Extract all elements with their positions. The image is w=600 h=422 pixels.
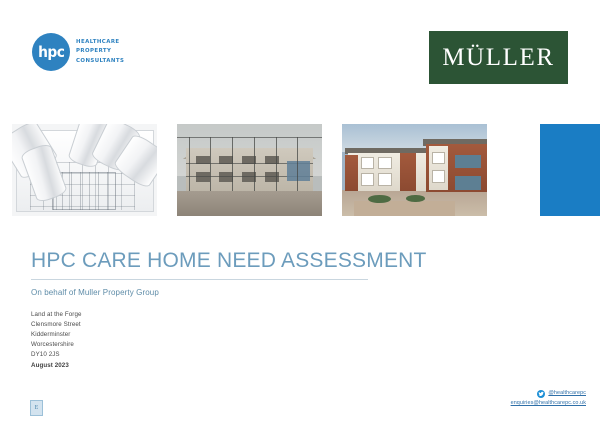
care-home-window bbox=[432, 170, 446, 183]
scaffold-pole bbox=[276, 137, 277, 191]
accent-block bbox=[540, 124, 600, 216]
page-marker-glyph: E bbox=[35, 405, 39, 411]
construction-tarpaulin bbox=[287, 161, 310, 181]
care-home-brick-pier-left bbox=[345, 155, 358, 191]
page-marker-icon: E bbox=[30, 400, 43, 416]
twitter-contact-row[interactable]: @healthcarepc bbox=[511, 390, 586, 398]
care-home-window bbox=[378, 173, 392, 186]
care-home-brick-pier-mid bbox=[400, 153, 416, 192]
title-divider bbox=[31, 279, 368, 280]
photo-construction-site bbox=[177, 124, 322, 216]
photo-completed-care-home bbox=[342, 124, 487, 216]
scaffold-pole bbox=[297, 137, 298, 191]
hpc-logo-word-3: CONSULTANTS bbox=[76, 57, 124, 66]
care-home-paving bbox=[354, 201, 456, 216]
muller-logo-text: MÜLLER bbox=[442, 44, 554, 72]
scaffold-pole bbox=[254, 137, 255, 191]
hpc-logo-mark: hpc bbox=[32, 33, 70, 71]
scaffold-top-rail bbox=[177, 137, 322, 138]
hpc-logo-mark-text: hpc bbox=[38, 45, 64, 60]
address-line-4: Worcestershire bbox=[31, 340, 82, 350]
care-home-window bbox=[361, 157, 375, 169]
care-home-glazing bbox=[455, 155, 481, 168]
scaffold-pole bbox=[232, 137, 233, 191]
care-home-window bbox=[361, 173, 375, 186]
document-date: August 2023 bbox=[31, 362, 69, 369]
care-home-entrance-glazing bbox=[455, 176, 481, 191]
site-address: Land at the Forge Clensmore Street Kidde… bbox=[31, 310, 82, 360]
hpc-logo-wordmark: HEALTHCARE PROPERTY CONSULTANTS bbox=[76, 38, 124, 65]
care-home-shrub bbox=[406, 195, 425, 202]
email-link[interactable]: enquiries@healthcarepc.co.uk bbox=[511, 400, 586, 408]
address-postcode: DY10 2JS bbox=[31, 350, 82, 360]
twitter-handle-link[interactable]: @healthcarepc bbox=[548, 390, 586, 398]
contact-details: @healthcarepc enquiries@healthcarepc.co.… bbox=[511, 390, 586, 408]
scaffold-pole bbox=[189, 137, 190, 191]
scaffold-pole bbox=[210, 137, 211, 191]
photo-blueprints bbox=[12, 124, 157, 216]
twitter-icon bbox=[537, 390, 545, 398]
muller-client-logo: MÜLLER bbox=[429, 31, 568, 84]
page-subtitle: On behalf of Muller Property Group bbox=[31, 288, 159, 297]
hpc-logo-word-1: HEALTHCARE bbox=[76, 38, 124, 47]
address-line-3: Kidderminster bbox=[31, 330, 82, 340]
care-home-window bbox=[378, 157, 392, 169]
address-line-1: Land at the Forge bbox=[31, 310, 82, 320]
hpc-logo-word-2: PROPERTY bbox=[76, 47, 124, 56]
care-home-window bbox=[432, 152, 446, 164]
address-line-2: Clensmore Street bbox=[31, 320, 82, 330]
construction-ground bbox=[177, 191, 322, 216]
hpc-logo: hpc HEALTHCARE PROPERTY CONSULTANTS bbox=[32, 33, 124, 71]
page-title: HPC CARE HOME NEED ASSESSMENT bbox=[31, 249, 427, 273]
